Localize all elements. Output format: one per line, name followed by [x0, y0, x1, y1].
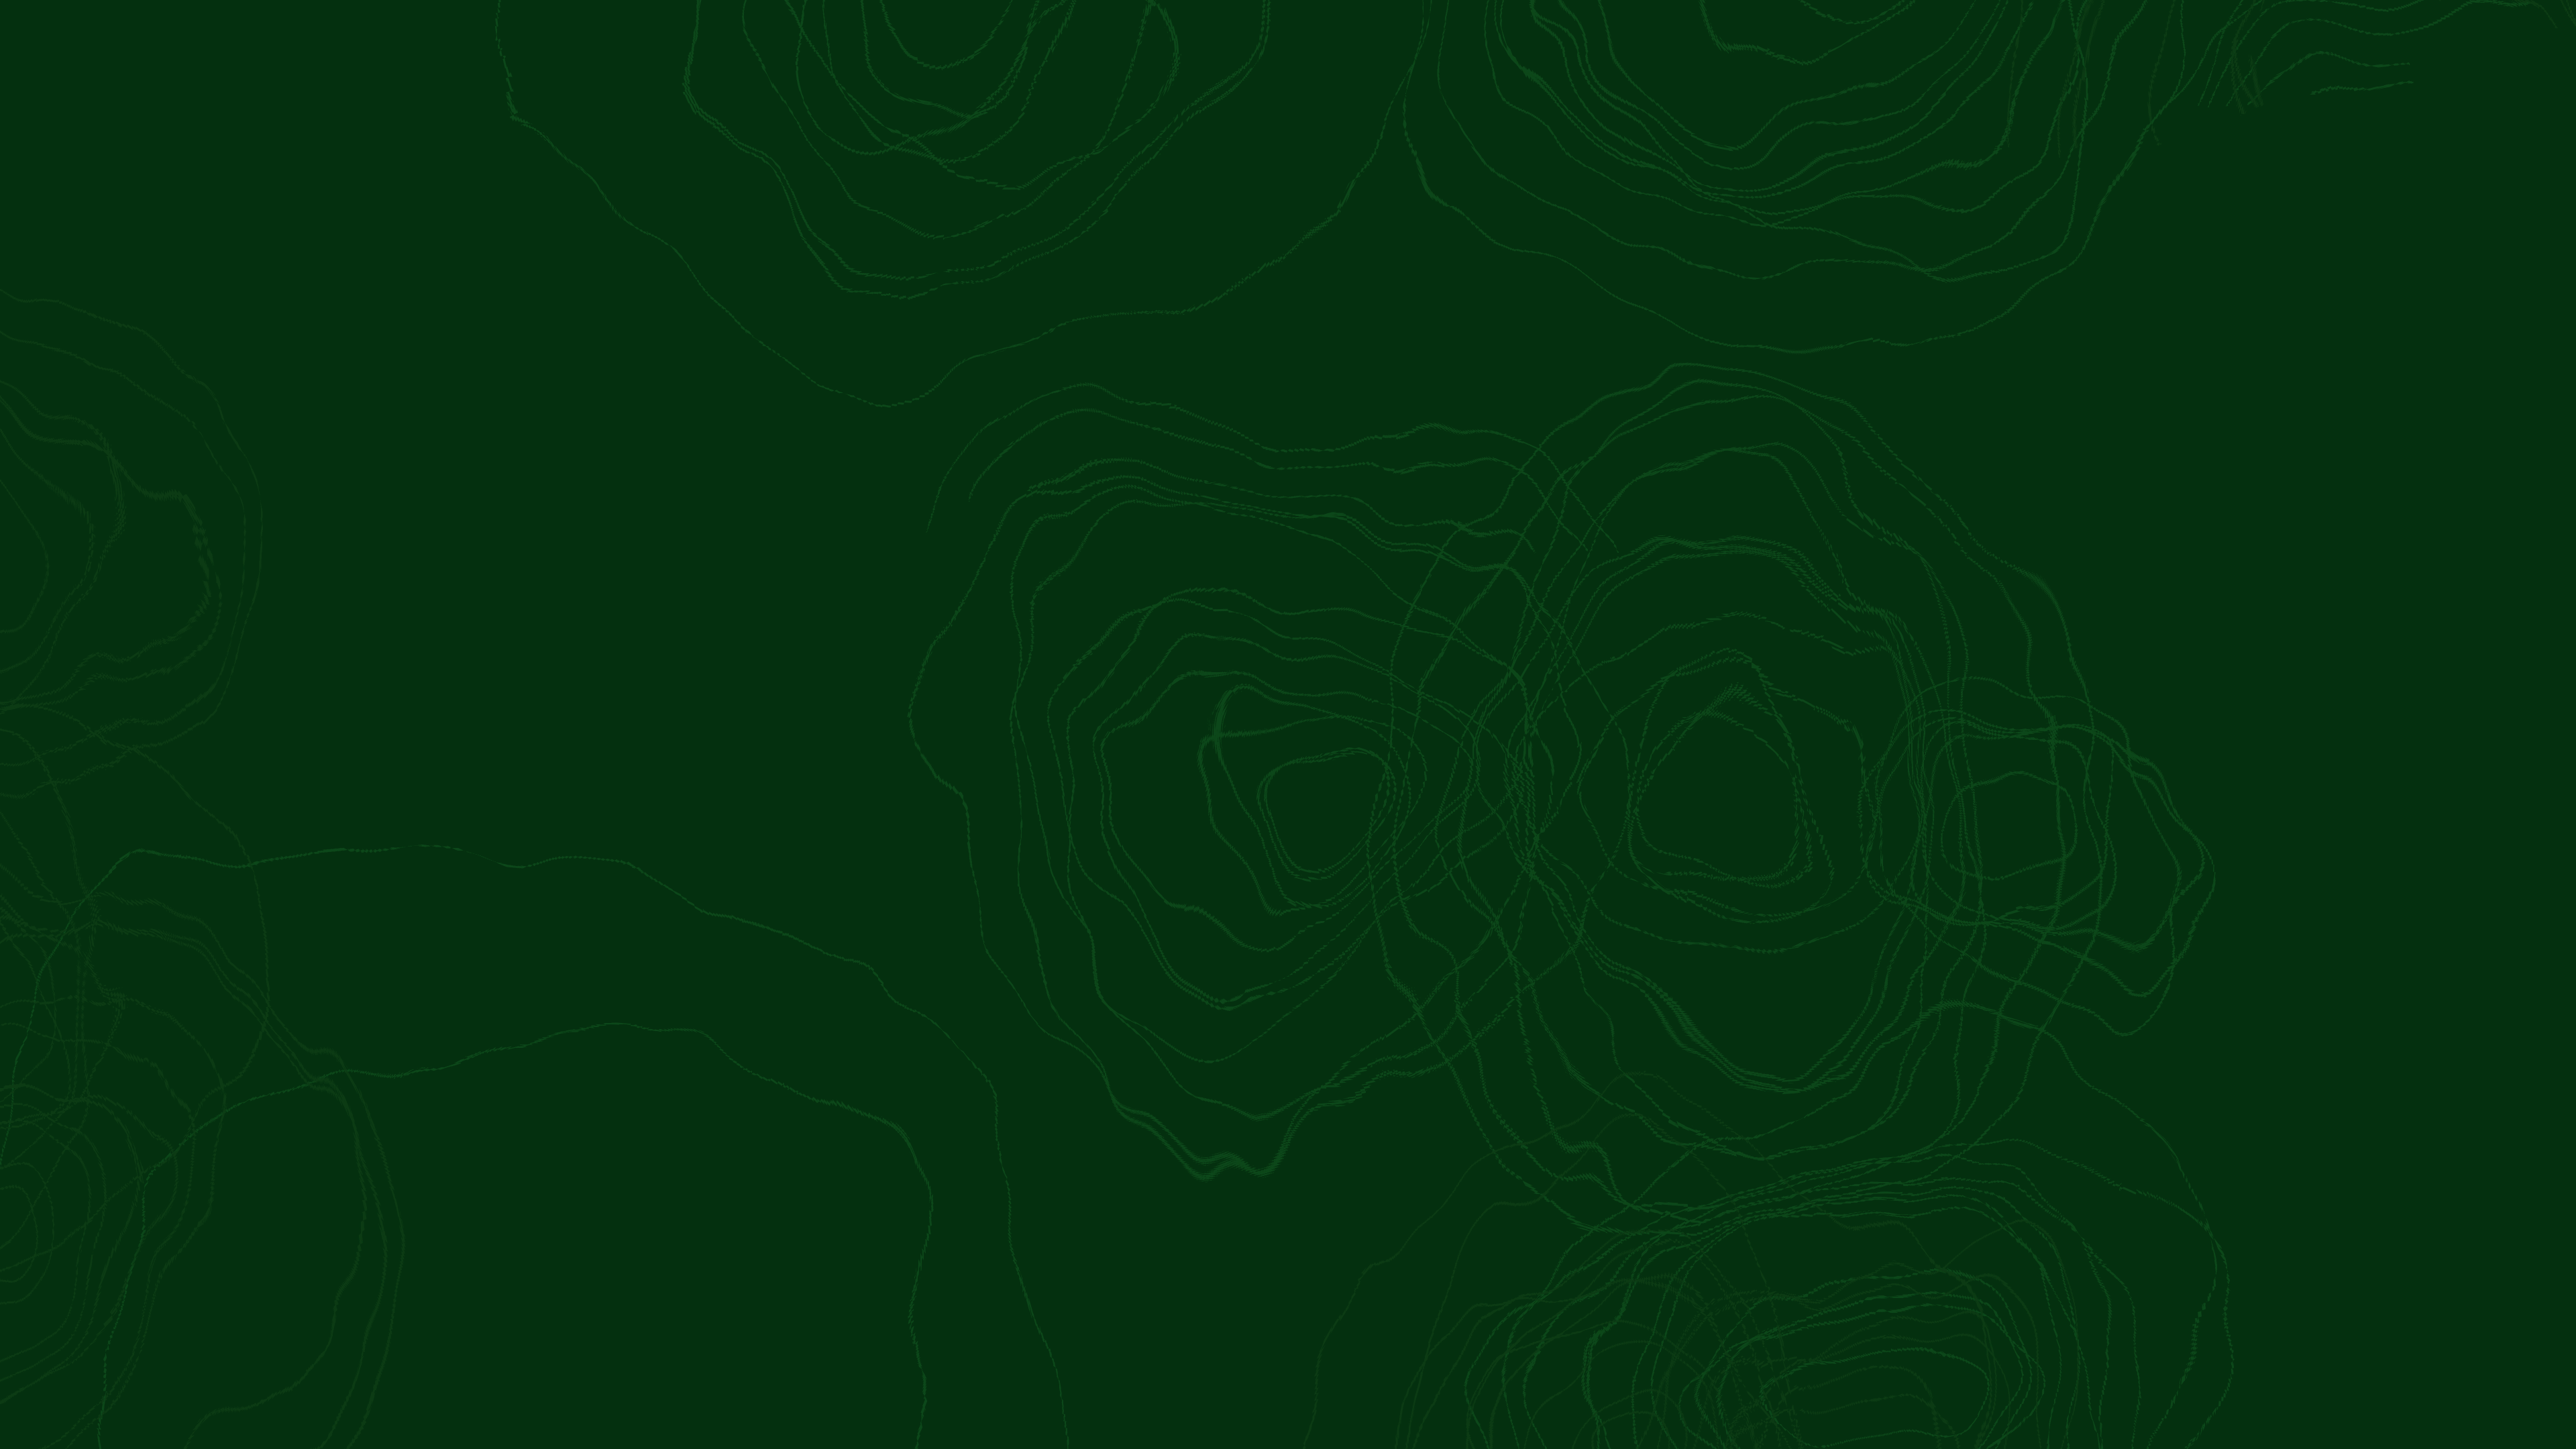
feedforward-label-ff-orient-decide: FEEDFORWARD: [1399, 694, 1600, 745]
input-label-unfolding-circumstances: UNFOLDINGCIRCUMSTANCES: [80, 523, 265, 608]
feedback-path-2b: [698, 825, 1295, 1049]
arrow-unfolding-interaction: [329, 780, 485, 842]
feedforward-label-ff-observe-orient: FEEDFORWARD: [768, 694, 969, 745]
feedforward-label-ff-decide-act: FEEDFORWARD: [1902, 694, 2103, 745]
feedback-label-feedback-from-act-1: FEEDBACK: [1419, 1033, 1558, 1064]
phase-title-decide: DECIDE: [1617, 221, 1787, 271]
logo-sub: Development: [2010, 1297, 2293, 1346]
feedback-path-2: [1550, 808, 2130, 1049]
logo-brand: COMMANDO: [2010, 1234, 2301, 1291]
phase-title-act: ACT: [2140, 221, 2225, 271]
observations-label: Observations: [470, 700, 792, 735]
guidance-label-right: IMPLICITGUIDANCE& CONTROL: [2133, 446, 2261, 573]
chevron-right-icon: [1940, 1226, 1994, 1313]
feedback-path-1: [1550, 808, 1748, 1010]
chevron-left-icon: [1869, 1226, 1923, 1313]
commando-development-logo: COMMANDO Development: [1858, 1177, 2301, 1358]
input-label-unfolding-interaction: UNFOLDINGINTERACTIONWITHENVIRONMENT: [80, 855, 237, 1024]
dagger-icon: [1912, 1180, 1949, 1348]
feedback-path-1b: [758, 828, 1295, 1010]
ooda-loop-diagram: CulturalTraditionsAnalysys& synthesisPre…: [0, 0, 2576, 1449]
phase-title-orient: ORIENT: [1050, 221, 1220, 271]
guidance-label-left: IMPLICITGUIDANCE& CONTROL: [533, 446, 661, 573]
decision-label: Decision(hypothesis): [1613, 684, 1882, 746]
feedback-label-feedback-from-decide: FEEDBACK: [1419, 994, 1558, 1025]
feedback-label-feedback-from-act-2: FEEDBACK: [1419, 1071, 1558, 1102]
act-output-label: UNFOLDINGINTERACTIONWITHENVIRONMENT: [2173, 885, 2375, 1055]
action-square: [2130, 641, 2291, 808]
input-label-outside-information: OUTSIDEINFORMATION: [80, 691, 237, 775]
phase-title-observe: OBSERVE: [476, 221, 676, 271]
arrow-unfolding-circumstances: [329, 537, 485, 669]
